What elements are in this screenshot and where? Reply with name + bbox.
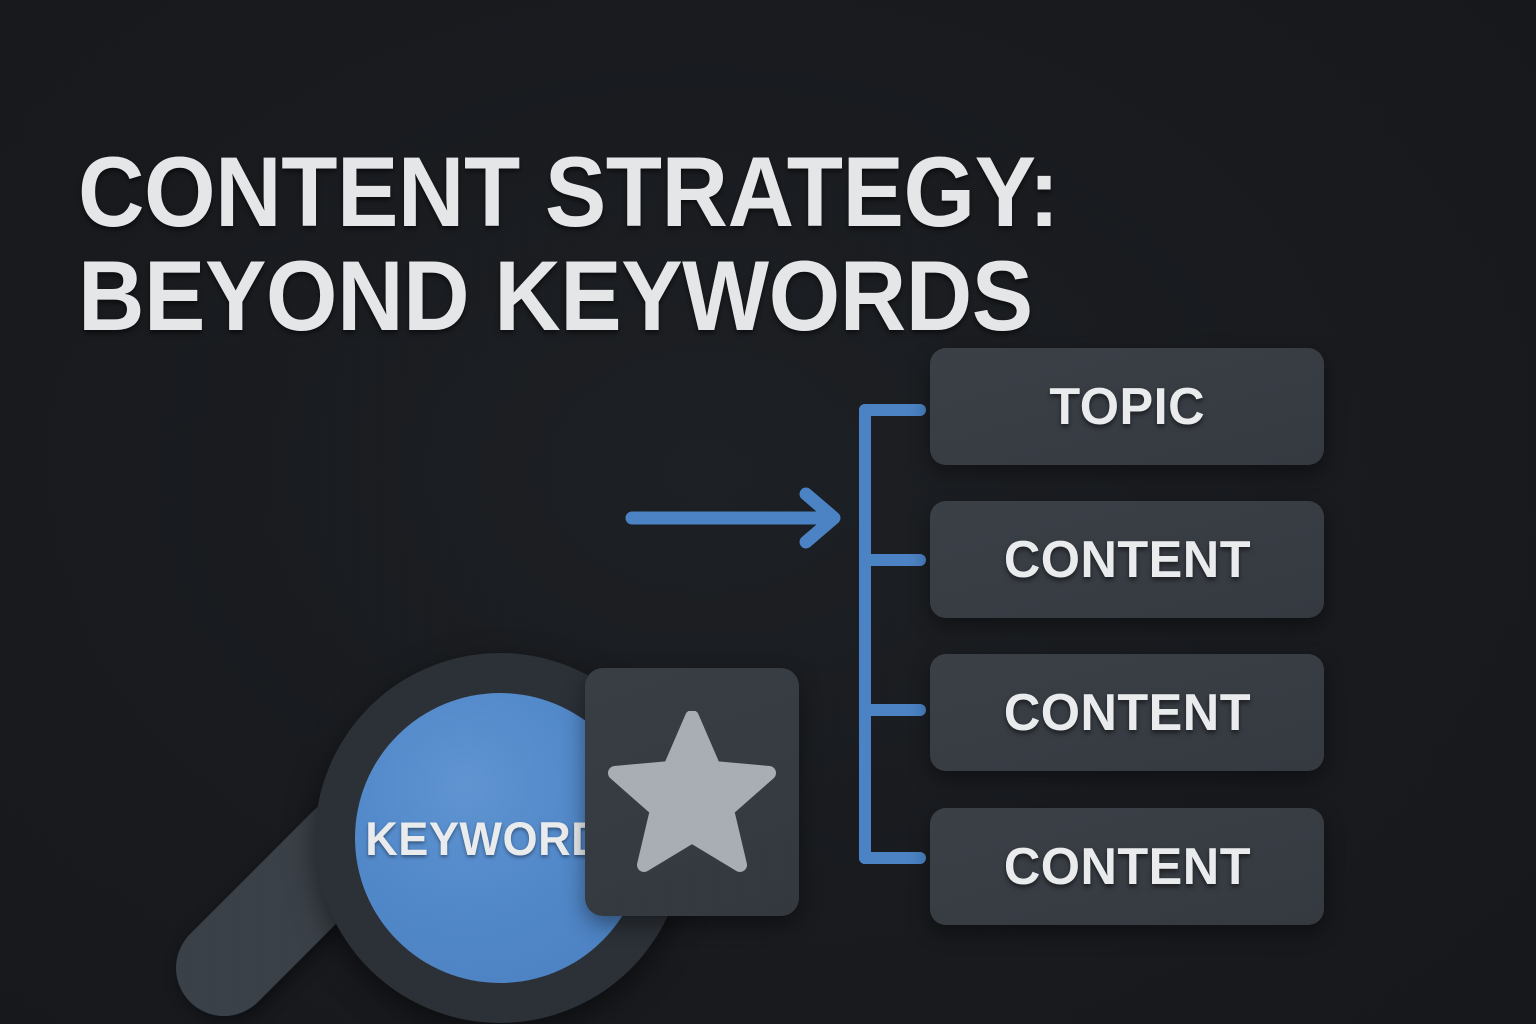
node-box-topic[interactable]: TOPIC	[930, 348, 1324, 465]
magnifying-glass-icon: KEYWORDS	[80, 320, 640, 900]
node-box-content-1[interactable]: CONTENT	[930, 501, 1324, 618]
infographic-canvas: CONTENT STRATEGY: BEYOND KEYWORDS KEYWOR…	[0, 0, 1536, 1024]
star-card	[585, 668, 799, 916]
node-box-content-3[interactable]: CONTENT	[930, 808, 1324, 925]
node-box-label: CONTENT	[1003, 837, 1250, 897]
node-box-label: CONTENT	[1003, 530, 1250, 590]
node-box-label: TOPIC	[1049, 377, 1205, 437]
arrow-right-icon	[620, 480, 860, 560]
star-icon	[607, 711, 777, 873]
page-title: CONTENT STRATEGY: BEYOND KEYWORDS	[78, 140, 1064, 348]
node-box-content-2[interactable]: CONTENT	[930, 654, 1324, 771]
node-box-label: CONTENT	[1003, 683, 1250, 743]
